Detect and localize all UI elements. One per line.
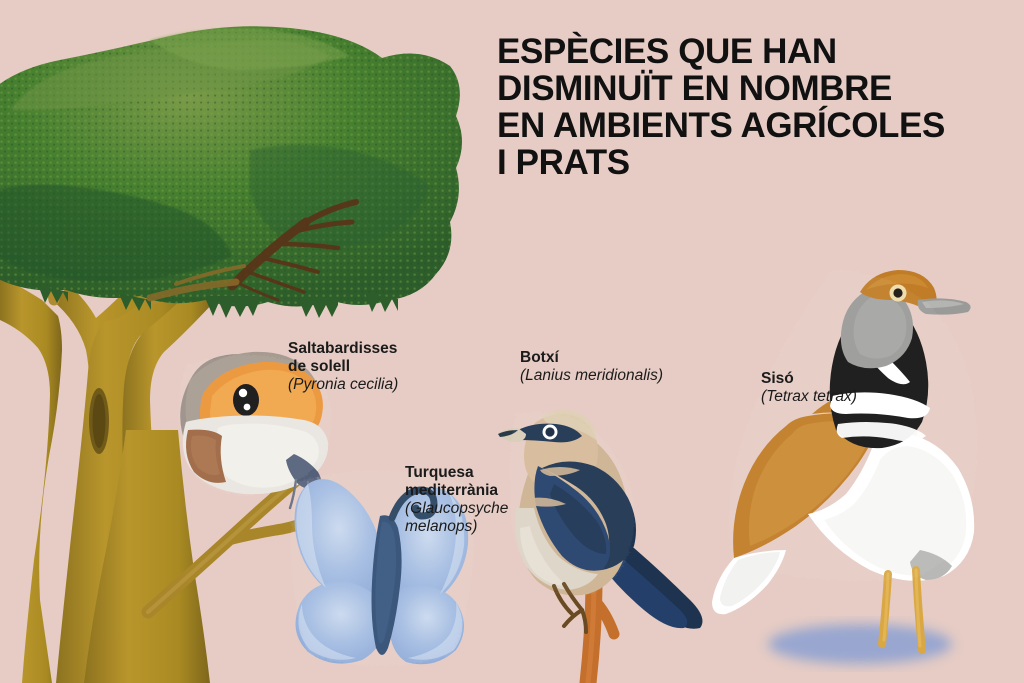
- species-common-name: Botxí: [520, 349, 695, 367]
- species-scientific-name: (Tetrax tetrax): [761, 388, 881, 406]
- species-common-name-line-2: mediterrània: [405, 482, 525, 500]
- poster-title: ESPÈCIES QUE HAN DISMINUÏT EN NOMBRE EN …: [497, 33, 967, 181]
- species-scientific-name-line-1: (Glaucopsyche: [405, 500, 525, 518]
- title-line-1: ESPÈCIES QUE HAN: [497, 33, 967, 70]
- title-line-2: DISMINUÏT EN NOMBRE: [497, 70, 967, 107]
- title-line-3: EN AMBIENTS AGRÍCOLES: [497, 107, 967, 144]
- species-common-name: Sisó: [761, 370, 881, 388]
- species-common-name-line-1: Turquesa: [405, 464, 525, 482]
- species-common-name-line-1: Saltabardisses: [288, 340, 438, 358]
- species-label-lanius: Botxí (Lanius meridionalis): [520, 349, 695, 385]
- species-label-glaucopsyche: Turquesa mediterrània (Glaucopsyche mela…: [405, 464, 525, 536]
- infographic-poster: ESPÈCIES QUE HAN DISMINUÏT EN NOMBRE EN …: [0, 0, 1024, 683]
- species-label-tetrax: Sisó (Tetrax tetrax): [761, 370, 881, 406]
- species-scientific-name: (Lanius meridionalis): [520, 367, 695, 385]
- species-scientific-name-line-2: melanops): [405, 518, 525, 536]
- species-common-name-line-2: de solell: [288, 358, 438, 376]
- species-label-pyronia: Saltabardisses de solell (Pyronia cecili…: [288, 340, 438, 394]
- title-line-4: I PRATS: [497, 144, 967, 181]
- species-scientific-name: (Pyronia cecilia): [288, 376, 438, 394]
